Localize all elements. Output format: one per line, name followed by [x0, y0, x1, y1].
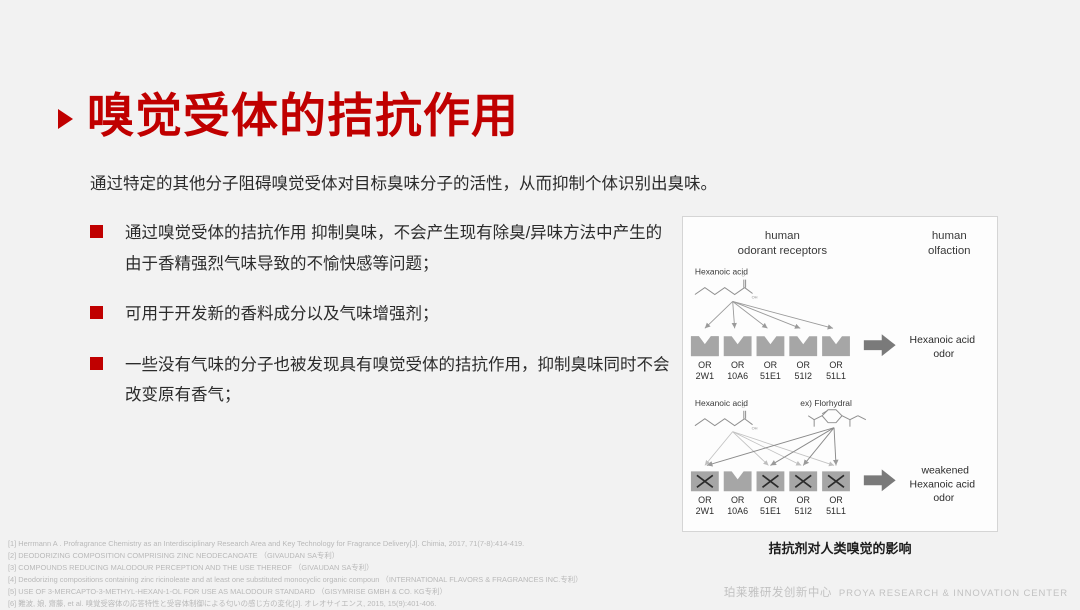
list-item-label: 一些没有气味的分子也被发现具有嗅觉受体的拮抗作用，抑制臭味同时不会改变原有香气；: [125, 350, 670, 411]
top-outcome-line1: Hexanoic acid: [910, 335, 976, 346]
carbonyl-o-label: O: [742, 273, 745, 278]
list-item: 一些没有气味的分子也被发现具有嗅觉受体的拮抗作用，抑制臭味同时不会改变原有香气；: [90, 350, 670, 411]
subtitle-text: 通过特定的其他分子阻碍嗅觉受体对目标臭味分子的活性，从而抑制个体识别出臭味。: [90, 170, 717, 194]
receptor-label: OR: [731, 360, 745, 370]
receptor-label: 10A6: [727, 506, 748, 516]
reference-item: [1] Herrmann A . Profragrance Chemistry …: [8, 538, 698, 550]
outcome-arrow-icon: [864, 469, 896, 491]
hydroxyl-oh-label: OH: [752, 294, 758, 299]
receptor-label: 51I2: [795, 371, 812, 381]
receptor-10a6: [724, 471, 752, 491]
hydroxyl-oh-label: OH: [752, 426, 758, 431]
receptor-51i2: [789, 336, 817, 356]
list-item: 通过嗅觉受体的拮抗作用 抑制臭味，不会产生现有除臭/异味方法中产生的由于香精强烈…: [90, 218, 670, 279]
list-item-label: 可用于开发新的香料成分以及气味增强剂；: [125, 299, 439, 330]
receptor-label: OR: [797, 495, 811, 505]
figure-caption: 拮抗剂对人类嗅觉的影响: [682, 538, 998, 557]
receptor-label: 51E1: [760, 371, 781, 381]
receptor-label: 51E1: [760, 506, 781, 516]
list-item: 可用于开发新的香料成分以及气味增强剂；: [90, 299, 670, 330]
receptor-2w1: [691, 336, 719, 356]
receptor-label: OR: [698, 495, 712, 505]
reference-item: [6] 難波, 娘, 齋藤, et al. 嗅覚受容体の応答特性と受容体制御によ…: [8, 598, 698, 610]
bottom-ligand-label: Hexanoic acid: [695, 398, 748, 408]
receptor-label: 51L1: [826, 506, 846, 516]
olfactory-antagonism-diagram: human odorant receptors human olfaction …: [683, 217, 997, 531]
top-receptor-row: [691, 336, 850, 356]
top-outcome-line2: odor: [933, 349, 954, 360]
footer-brand: 珀莱雅研发创新中心 PROYA RESEARCH & INNOVATION CE…: [724, 584, 1068, 600]
outcome-arrow-icon: [864, 334, 896, 356]
list-item-label: 通过嗅觉受体的拮抗作用 抑制臭味，不会产生现有除臭/异味方法中产生的由于香精强烈…: [125, 218, 670, 279]
figure-header-right-line1: human: [932, 230, 967, 242]
hexanoic-acid-structure-icon: [695, 280, 753, 295]
receptor-label: 51I2: [795, 506, 812, 516]
reference-item: [4] Deodorizing compositions containing …: [8, 574, 698, 586]
bullet-square-icon: [90, 306, 103, 319]
figure-panel: human odorant receptors human olfaction …: [682, 216, 998, 532]
page-title: 嗅觉受体的拮抗作用: [58, 92, 519, 139]
bottom-outcome-line3: odor: [933, 493, 954, 504]
bullet-square-icon: [90, 357, 103, 370]
triangle-marker-icon: [58, 109, 73, 129]
figure-header-left-line2: odorant receptors: [738, 245, 828, 257]
reference-item: [3] COMPOUNDS REDUCING MALODOUR PERCEPTI…: [8, 562, 698, 574]
carbonyl-o-label: O: [742, 404, 745, 409]
slide-root: 嗅觉受体的拮抗作用 通过特定的其他分子阻碍嗅觉受体对目标臭味分子的活性，从而抑制…: [0, 0, 1080, 608]
receptor-label: 2W1: [696, 506, 714, 516]
receptor-label: 51L1: [826, 371, 846, 381]
receptor-label: OR: [829, 495, 843, 505]
figure-header-left-line1: human: [765, 230, 800, 242]
antagonist-label: ex) Florhydral: [800, 398, 852, 408]
brand-name-cn: 珀莱雅研发创新中心: [724, 584, 832, 600]
receptor-label: OR: [764, 360, 778, 370]
figure-header-right-line2: olfaction: [928, 245, 970, 257]
florhydral-structure-icon: [808, 410, 866, 427]
receptor-51e1: [757, 336, 785, 356]
top-ligand-label: Hexanoic acid: [695, 267, 748, 277]
receptor-label: OR: [829, 360, 843, 370]
bottom-outcome-line1: weakened: [920, 465, 969, 476]
title-text: 嗅觉受体的拮抗作用: [87, 92, 519, 139]
reference-item: [5] USE OF 3-MERCAPTO-3-METHYL-HEXAN-1-O…: [8, 586, 698, 598]
brand-name-en: PROYA RESEARCH & INNOVATION CENTER: [839, 588, 1068, 599]
receptor-10a6: [724, 336, 752, 356]
receptor-label: 2W1: [696, 371, 714, 381]
receptor-label: OR: [698, 360, 712, 370]
receptor-label: OR: [731, 495, 745, 505]
top-binding-arrows: [705, 301, 833, 328]
receptor-label: 10A6: [727, 371, 748, 381]
receptor-51l1: [822, 336, 850, 356]
bullet-list: 通过嗅觉受体的拮抗作用 抑制臭味，不会产生现有除臭/异味方法中产生的由于香精强烈…: [90, 218, 670, 431]
reference-item: [2] DEODORIZING COMPOSITION COMPRISING Z…: [8, 550, 698, 562]
bullet-square-icon: [90, 225, 103, 238]
bottom-outcome-line2: Hexanoic acid: [910, 479, 976, 490]
receptor-label: OR: [797, 360, 811, 370]
hexanoic-acid-structure-icon: [695, 411, 753, 426]
receptor-label: OR: [764, 495, 778, 505]
reference-list: [1] Herrmann A . Profragrance Chemistry …: [8, 538, 698, 610]
